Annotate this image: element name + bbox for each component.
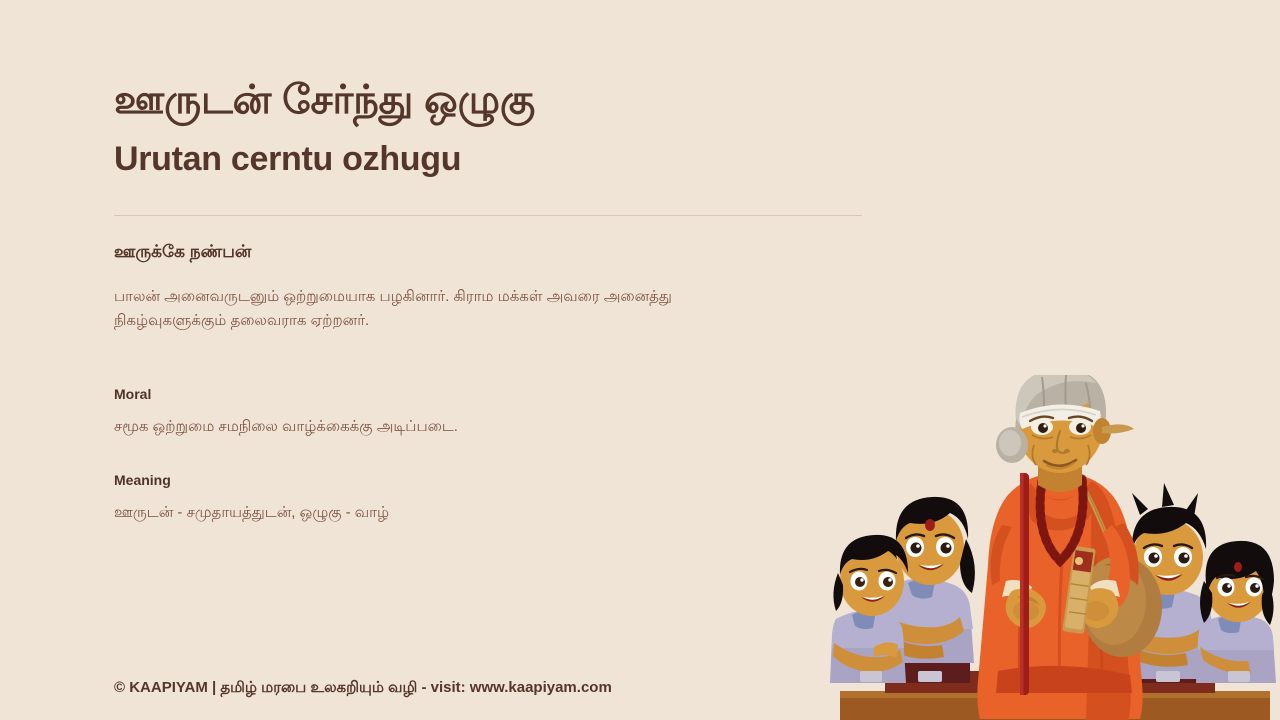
bench-shape bbox=[840, 671, 1270, 720]
page-title-transliteration: Urutan cerntu ozhugu bbox=[114, 140, 461, 179]
child-girl-pigtails bbox=[878, 497, 975, 683]
page-title-tamil: ஊருடன் சேர்ந்து ஒழுகு bbox=[114, 78, 535, 123]
footer-credit: © KAAPIYAM | தமிழ் மரபை உலகறியும் வழி - … bbox=[114, 678, 612, 698]
prayer-beads bbox=[1040, 479, 1083, 561]
text-content-column: ஊருடன் சேர்ந்து ஒழுகு Urutan cerntu ozhu… bbox=[114, 0, 874, 720]
meaning-text: ஊருடன் - சமுதாயத்துடன், ஒழுகு - வாழ் bbox=[114, 501, 389, 525]
moral-label: Moral bbox=[114, 385, 151, 403]
story-heading: ஊருக்கே நண்பன் bbox=[114, 241, 251, 263]
child-girl-front-right bbox=[1196, 541, 1276, 683]
elder-with-children-illustration bbox=[830, 375, 1280, 720]
meaning-label: Meaning bbox=[114, 471, 171, 489]
child-boy-back-right bbox=[1115, 483, 1215, 683]
elder-sage-figure bbox=[977, 375, 1162, 720]
moral-text: சமூக ஒற்றுமை சமநிலை வாழ்க்கைக்கு அடிப்பட… bbox=[114, 415, 458, 439]
header-divider bbox=[114, 215, 862, 216]
story-body-text: பாலன் அனைவருடனும் ஒற்றுமையாக பழகினார். க… bbox=[114, 285, 779, 334]
palm-leaf-book bbox=[1062, 546, 1096, 634]
